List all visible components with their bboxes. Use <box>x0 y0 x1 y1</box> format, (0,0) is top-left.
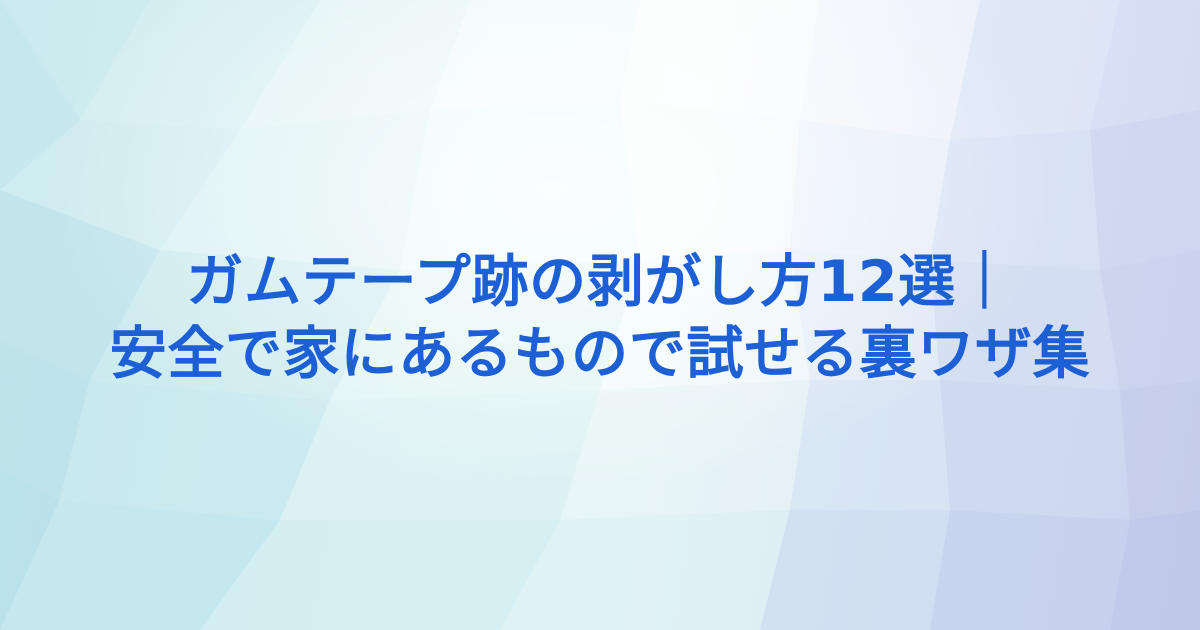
title-line-2: 安全で家にあるもので試せる裏ワザ集 <box>110 318 1091 390</box>
title-line-1: ガムテープ跡の剥がし方12選｜ <box>186 246 1013 318</box>
title-block: ガムテープ跡の剥がし方12選｜ 安全で家にあるもので試せる裏ワザ集 <box>0 0 1200 630</box>
ogp-title-card: ガムテープ跡の剥がし方12選｜ 安全で家にあるもので試せる裏ワザ集 <box>0 0 1200 630</box>
